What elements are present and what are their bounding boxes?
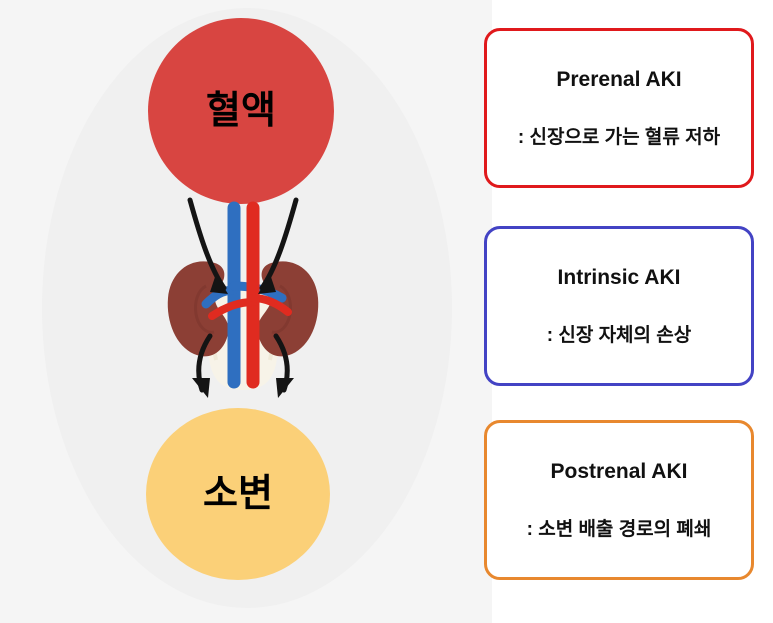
card-prerenal-aki[interactable]: Prerenal AKI : 신장으로 가는 혈류 저하 (484, 28, 754, 188)
card-intrinsic-description: : 신장 자체의 손상 (547, 320, 692, 347)
kidney-anatomy-illustration (148, 186, 338, 418)
card-postrenal-description: : 소변 배출 경로의 폐쇄 (527, 514, 712, 541)
diagram-panel: 혈액 (0, 0, 492, 623)
card-intrinsic-title: Intrinsic AKI (558, 266, 681, 290)
card-postrenal-title: Postrenal AKI (551, 460, 688, 484)
urine-node: 소변 (146, 408, 330, 580)
card-postrenal-aki[interactable]: Postrenal AKI : 소변 배출 경로의 폐쇄 (484, 420, 754, 580)
legend-panel: Prerenal AKI : 신장으로 가는 혈류 저하 Intrinsic A… (492, 0, 773, 623)
card-prerenal-description: : 신장으로 가는 혈류 저하 (518, 122, 720, 149)
urine-node-label: 소변 (203, 475, 273, 513)
blood-node-label: 혈액 (206, 92, 276, 130)
card-intrinsic-aki[interactable]: Intrinsic AKI : 신장 자체의 손상 (484, 226, 754, 386)
blood-node: 혈액 (148, 18, 334, 204)
card-prerenal-title: Prerenal AKI (556, 68, 681, 92)
